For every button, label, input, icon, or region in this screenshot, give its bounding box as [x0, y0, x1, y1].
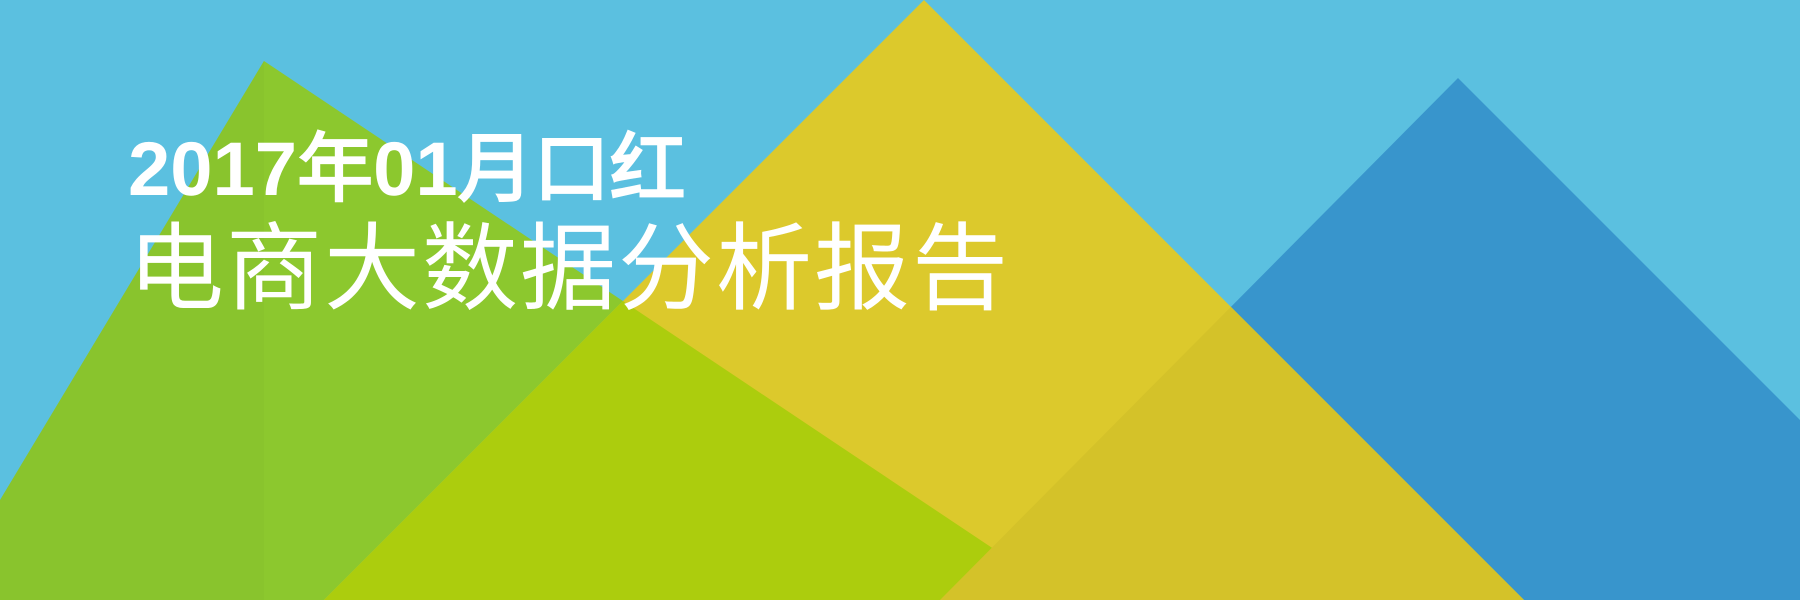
title-block: 2017年01月口红 电商大数据分析报告 [128, 132, 1010, 318]
yellow-shadow-wedge [940, 78, 1800, 600]
page-title-secondary: 电商大数据分析报告 [128, 222, 1010, 318]
dark-blue-triangle [940, 78, 1800, 600]
title-banner: 2017年01月口红 电商大数据分析报告 [0, 0, 1800, 600]
page-title-primary: 2017年01月口红 [128, 132, 1010, 208]
